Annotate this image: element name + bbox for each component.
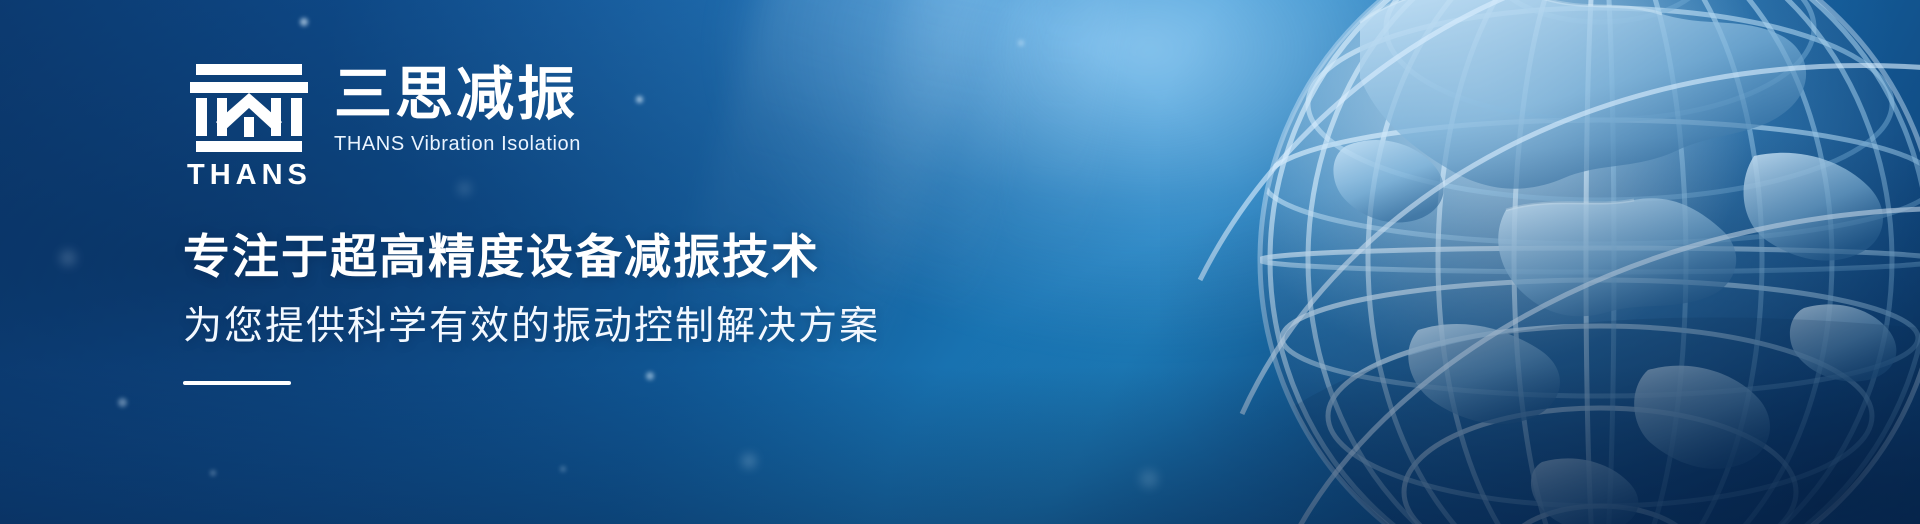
hero-subheadline: 为您提供科学有效的振动控制解决方案: [183, 304, 880, 351]
logo-wordmark: THANS: [187, 161, 315, 190]
brand-block: 三思减振 THANS Vibration Isolation: [334, 62, 581, 155]
logo-lockup: THANS 三思减振 THANS Vibration Isolation: [183, 0, 880, 190]
hero-divider: [183, 381, 291, 385]
banner-content: THANS 三思减振 THANS Vibration Isolation 专注于…: [183, 0, 880, 524]
hero-banner: THANS 三思减振 THANS Vibration Isolation 专注于…: [0, 0, 1920, 524]
logo-block: THANS: [183, 62, 315, 190]
hero-headline: 专注于超高精度设备减振技术: [183, 230, 880, 284]
thans-emblem-icon: [190, 62, 308, 154]
brand-name-en: THANS Vibration Isolation: [334, 133, 581, 155]
brand-name-cn: 三思减振: [334, 65, 581, 126]
